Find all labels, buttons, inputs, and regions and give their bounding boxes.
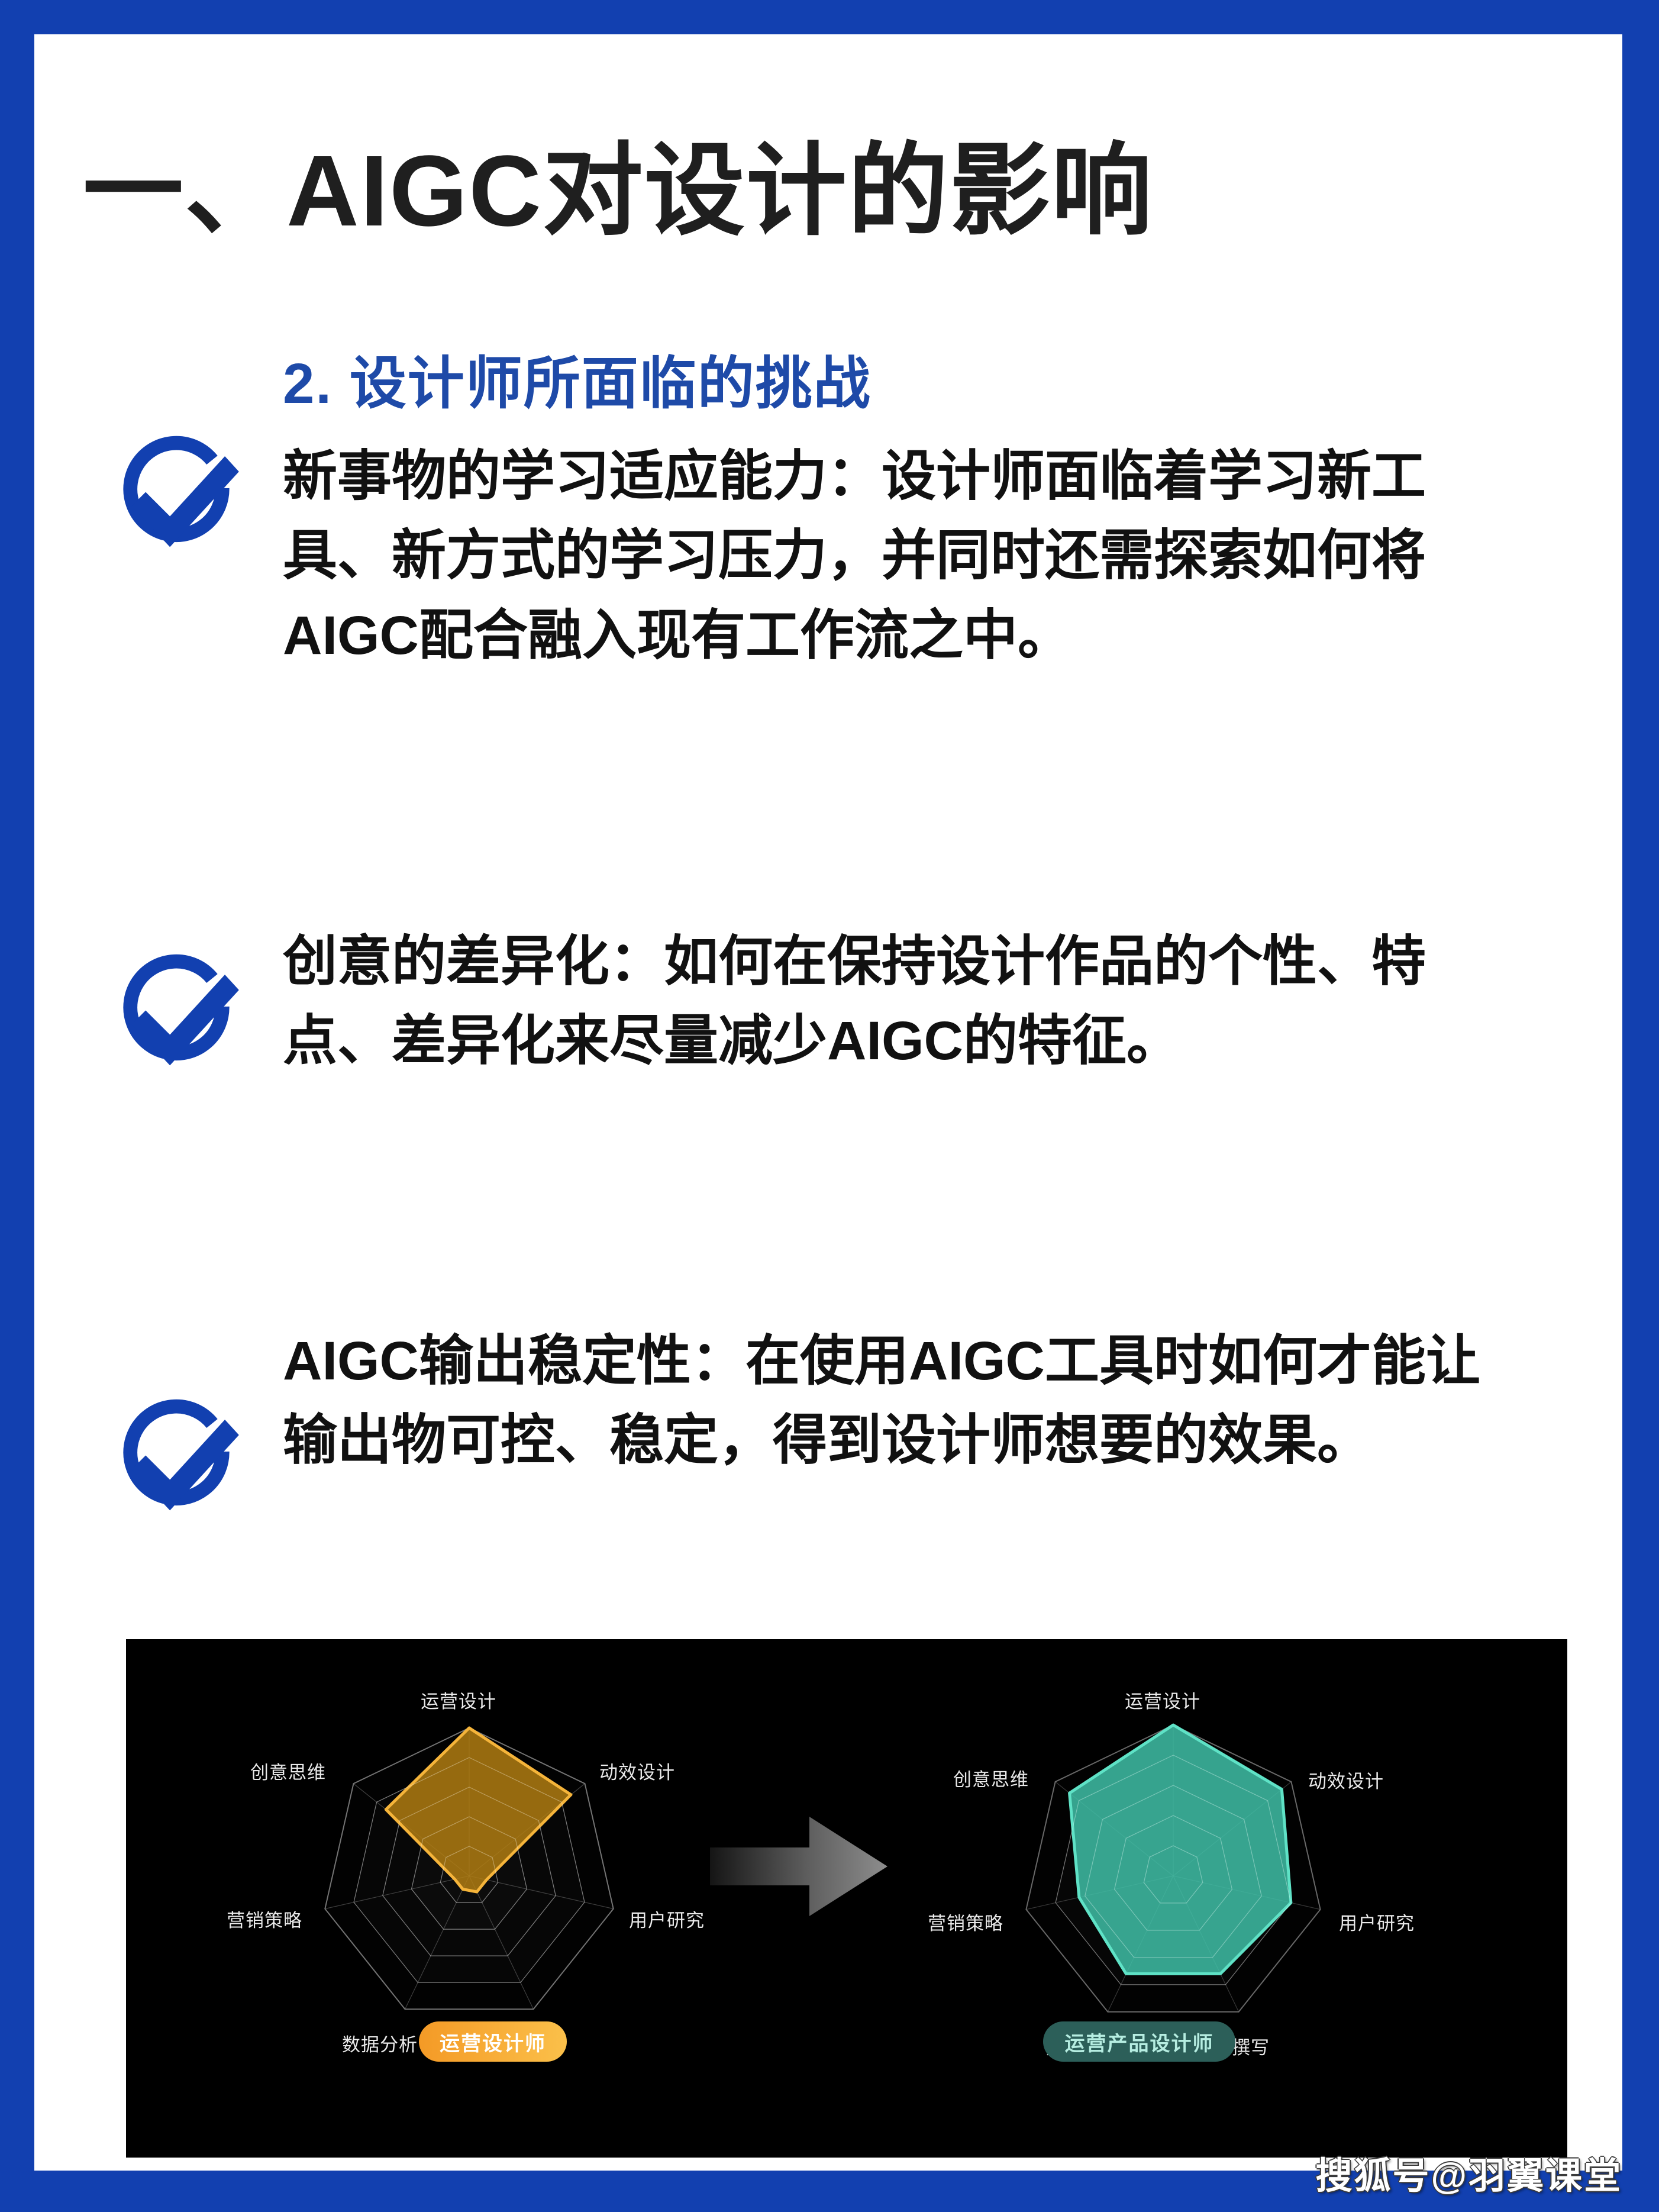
check-circle-icon: [112, 950, 240, 1078]
axis-label: 创意思维: [250, 1758, 326, 1784]
section-subtitle: 2. 设计师所面临的挑战: [283, 337, 872, 420]
legend-badge-left: 运营设计师: [419, 2021, 567, 2062]
axis-label: 营销策略: [227, 1905, 302, 1932]
axis-label: 创意思维: [953, 1765, 1029, 1791]
axis-label: 动效设计: [599, 1758, 675, 1784]
page-border: 一、AIGC对设计的影响 2. 设计师所面临的挑战 新事物的学习适应能力：设计师…: [0, 0, 1659, 2212]
bullet-text-2: 创意的差异化：如何在保持设计作品的个性、特点、差异化来尽量减少AIGC的特征。: [283, 922, 1508, 1081]
bullet-text-3: AIGC输出稳定性：在使用AIGC工具时如何才能让输出物可控、稳定，得到设计师想…: [283, 1321, 1508, 1481]
axis-label: 用户研究: [629, 1905, 705, 1932]
radar-comparison-figure: 运营设计 动效设计 用户研究 文案撰写 数据分析 营销策略 创意思维: [126, 1639, 1567, 2158]
radar-chart-right: 运营设计 动效设计 用户研究 文案撰写 数据分析 营销策略 创意思维: [925, 1639, 1457, 2158]
legend-badge-right: 运营产品设计师: [1043, 2021, 1235, 2062]
bullet-text-1: 新事物的学习适应能力：设计师面临着学习新工具、新方式的学习压力，并同时还需探索如…: [283, 437, 1508, 675]
check-circle-icon: [112, 432, 240, 560]
content-card: 一、AIGC对设计的影响 2. 设计师所面临的挑战 新事物的学习适应能力：设计师…: [34, 34, 1622, 2171]
radar-chart-left: 运营设计 动效设计 用户研究 文案撰写 数据分析 营销策略 创意思维: [221, 1639, 718, 2158]
axis-label: 动效设计: [1308, 1766, 1384, 1793]
axis-label: 营销策略: [928, 1908, 1003, 1935]
axis-label: 用户研究: [1339, 1908, 1415, 1935]
check-circle-icon: [112, 1395, 240, 1523]
watermark: 搜狐号@羽翼课堂: [1316, 2146, 1622, 2199]
arrow-right-icon: [710, 1817, 887, 1916]
axis-label: 运营设计: [1125, 1687, 1200, 1713]
axis-label: 数据分析: [342, 2030, 418, 2056]
page-title: 一、AIGC对设计的影响: [83, 136, 1562, 247]
axis-label: 运营设计: [421, 1687, 496, 1713]
